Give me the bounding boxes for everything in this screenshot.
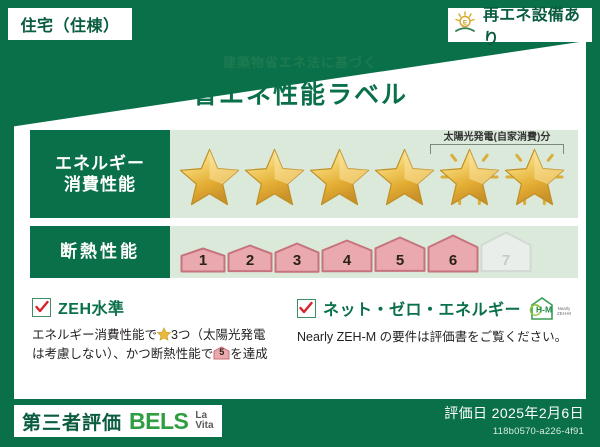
insulation-label: 断熱性能 [60,241,140,262]
label-subtitle: 建築物省エネ法に基づく [0,52,600,71]
energy-performance-row: エネルギー 消費性能 [30,130,578,218]
energy-performance-label: 住宅（住棟） E 再エネ設備あり 建築物省エネ法に基づく 省エネ性能ラベル [0,0,600,447]
inline-badge-value: 5 [213,346,230,360]
insulation-level-badge: 3 [274,242,320,273]
insulation-level-value: 7 [502,252,510,273]
zeh-standard-body: エネルギー消費性能で3つ（太陽光発電は考慮しない）、かつ断熱性能で5を達成 [32,326,277,365]
svg-text:H-M: H-M [536,305,552,315]
svg-text:ZEH-M: ZEH-M [557,311,571,316]
insulation-performance-row: 断熱性能 1 2 3 4 5 6 7 [30,226,578,278]
renewable-badge-label: 再エネ設備あり [483,1,592,49]
star-icon-solar [438,146,501,208]
star-icon [178,146,241,208]
star-icon [308,146,371,208]
zeh-standard-column: ZEH水準 エネルギー消費性能で3つ（太陽光発電は考慮しない）、かつ断熱性能で5… [32,295,277,365]
insulation-level-value: 5 [396,252,404,273]
zeh-body-part1: エネルギー消費性能で [32,328,157,342]
check-icon [35,300,49,314]
inline-insulation-badge: 5 [213,346,230,360]
third-party-label: 第三者評価 [22,408,122,435]
insulation-performance-label-box: 断熱性能 [30,226,170,278]
checkbox-net-zero-energy [297,299,316,318]
brand-name: La Vita [195,411,213,432]
star-rating [170,146,566,208]
evaluation-id: 118b0570-a226-4f91 [444,426,584,437]
insulation-level-badge: 6 [427,234,479,273]
page-title: 省エネ性能ラベル [0,75,600,111]
insulation-level-badge: 1 [180,247,226,273]
renewable-energy-badge: E 再エネ設備あり [448,8,592,42]
zeh-m-house-logo: H-M Nearly ZEH-M [528,295,574,321]
building-type-chip: 住宅（住棟） [8,8,132,40]
info-columns: ZEH水準 エネルギー消費性能で3つ（太陽光発電は考慮しない）、かつ断熱性能で5… [32,295,574,365]
title-block: 建築物省エネ法に基づく 省エネ性能ラベル [0,52,600,111]
zeh-standard-title: ZEH水準 [58,295,125,319]
solar-annotation-label: 太陽光発電(自家消費)分 [422,128,572,143]
star-icon [373,146,436,208]
energy-performance-body: 太陽光発電(自家消費)分 [170,130,578,218]
insulation-level-badge: 7 [480,231,532,273]
insulation-level-value: 3 [293,252,301,273]
zeh-body-part3: を達成 [230,347,268,361]
star-icon [157,327,171,341]
insulation-level-value: 2 [246,252,254,273]
star-icon [243,146,306,208]
footer: 第三者評価 BELS La Vita 評価日 2025年2月6日 118b057… [0,399,600,447]
checkbox-zeh-standard [32,298,51,317]
net-zero-energy-column: ネット・ゼロ・エネルギー H-M Nearly ZEH-M Nearly ZEH… [297,295,574,365]
insulation-performance-body: 1 2 3 4 5 6 7 [170,226,578,278]
energy-label-line2: 消費性能 [64,174,136,195]
bels-badge: 第三者評価 BELS La Vita [14,405,222,437]
bels-label: BELS [129,408,188,435]
net-zero-energy-body: Nearly ZEH-M の要件は評価書をご覧ください。 [297,328,574,347]
insulation-level-badge: 2 [227,244,273,273]
insulation-level-value: 6 [449,252,457,273]
net-zero-energy-title: ネット・ゼロ・エネルギー [323,296,521,320]
zeh-standard-header: ZEH水準 [32,295,277,319]
building-type-label: 住宅（住棟） [20,12,119,36]
insulation-level-badge: 5 [374,236,426,272]
insulation-level-value: 4 [343,252,351,273]
evaluation-info: 評価日 2025年2月6日 118b0570-a226-4f91 [444,403,584,437]
insulation-level-value: 1 [199,252,207,273]
evaluation-date: 評価日 2025年2月6日 [444,403,584,423]
energy-performance-label-box: エネルギー 消費性能 [30,130,170,218]
star-icon-solar [503,146,566,208]
insulation-level-badge: 4 [321,239,373,273]
brand-line2: Vita [195,421,213,432]
check-icon [299,301,313,315]
insulation-scale: 1 2 3 4 5 6 7 [170,231,532,273]
energy-label-line1: エネルギー [55,153,145,174]
solar-sun-icon: E [452,10,478,41]
net-zero-energy-header: ネット・ゼロ・エネルギー H-M Nearly ZEH-M [297,295,574,321]
svg-text:E: E [463,19,468,26]
